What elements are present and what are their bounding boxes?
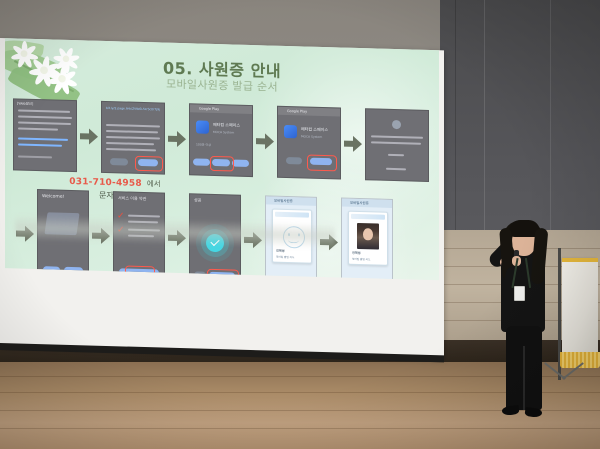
mobile-id-card: 정해용 모바일 출입 카드 [348, 211, 388, 266]
flow-arrow-icon [80, 128, 98, 145]
mobile-id-card: 정해용 모바일 출입 카드 [272, 209, 312, 264]
flag-cloth [562, 258, 598, 356]
presenter-shoe-left [501, 405, 519, 416]
flow-arrow-icon [244, 232, 262, 249]
success-panel: 성공 [189, 193, 241, 280]
phone-number: 031-710-4958 [69, 177, 142, 189]
welcome-panel: Welcome! [37, 189, 89, 280]
permission-dialog-panel [365, 108, 429, 182]
presenter-leg-split [523, 346, 525, 410]
highlight-box [207, 269, 239, 280]
sms-text-panel: [Web발신] [13, 98, 77, 172]
flow-arrow-icon [344, 136, 362, 153]
highlight-box [125, 265, 155, 280]
ceremonial-flag [556, 258, 600, 388]
caption-suffix: 에서 [147, 179, 161, 188]
flag-emblem-icon [576, 284, 600, 326]
wall-seam [455, 0, 456, 240]
highlight-box [135, 156, 163, 172]
photo-placeholder-icon [283, 226, 305, 249]
slide: 05. 사원증 안내 모바일사원증 발급 순서 [Web발신] bit.ly/2… [5, 38, 439, 280]
step-row-2: Welcome! 서비스 이용 약관 ✓ ✓ [13, 188, 433, 280]
projection-screen: 05. 사원증 안내 모바일사원증 발급 순서 [Web발신] bit.ly/2… [0, 38, 444, 357]
play-store-install-panel: Google Play 메타컵 스페이스 MOCA System 100만 이상 [189, 103, 253, 177]
badge-icon [514, 286, 525, 301]
flow-arrow-icon [256, 133, 274, 150]
flow-arrow-icon [92, 228, 110, 245]
red-check-icon: ✓ [117, 226, 125, 235]
flow-arrow-icon [16, 225, 34, 242]
download-link-panel: bit.ly/2.page.link/ZVtb6L5zrSc0r7J9j [101, 101, 165, 175]
play-store-open-panel: Google Play 메타컵 스페이스 MOCA System [277, 106, 341, 180]
flag-fringe-top [562, 258, 598, 262]
photo-scene: 05. 사원증 안내 모바일사원증 발급 순서 [Web발신] bit.ly/2… [0, 0, 600, 449]
step-row-1: [Web발신] bit.ly/2.page.link/ZVtb6L5zrSc0r… [13, 98, 433, 182]
highlight-box [210, 156, 234, 172]
employee-photo [357, 223, 379, 250]
mobile-id-photo-panel: 모바일사원증 정해용 모바일 출입 카드 [341, 198, 393, 281]
highlight-box [307, 155, 337, 172]
flow-arrow-icon [168, 230, 186, 247]
mobile-id-empty-panel: 모바일사원증 정해용 모바일 출입 카드 [265, 195, 317, 280]
terms-agreement-panel: 서비스 이용 약관 ✓ ✓ [113, 191, 165, 280]
flow-arrow-icon [320, 234, 338, 251]
flow-arrow-icon [168, 131, 186, 148]
success-check-icon [206, 233, 224, 252]
red-check-icon: ✓ [117, 212, 125, 221]
